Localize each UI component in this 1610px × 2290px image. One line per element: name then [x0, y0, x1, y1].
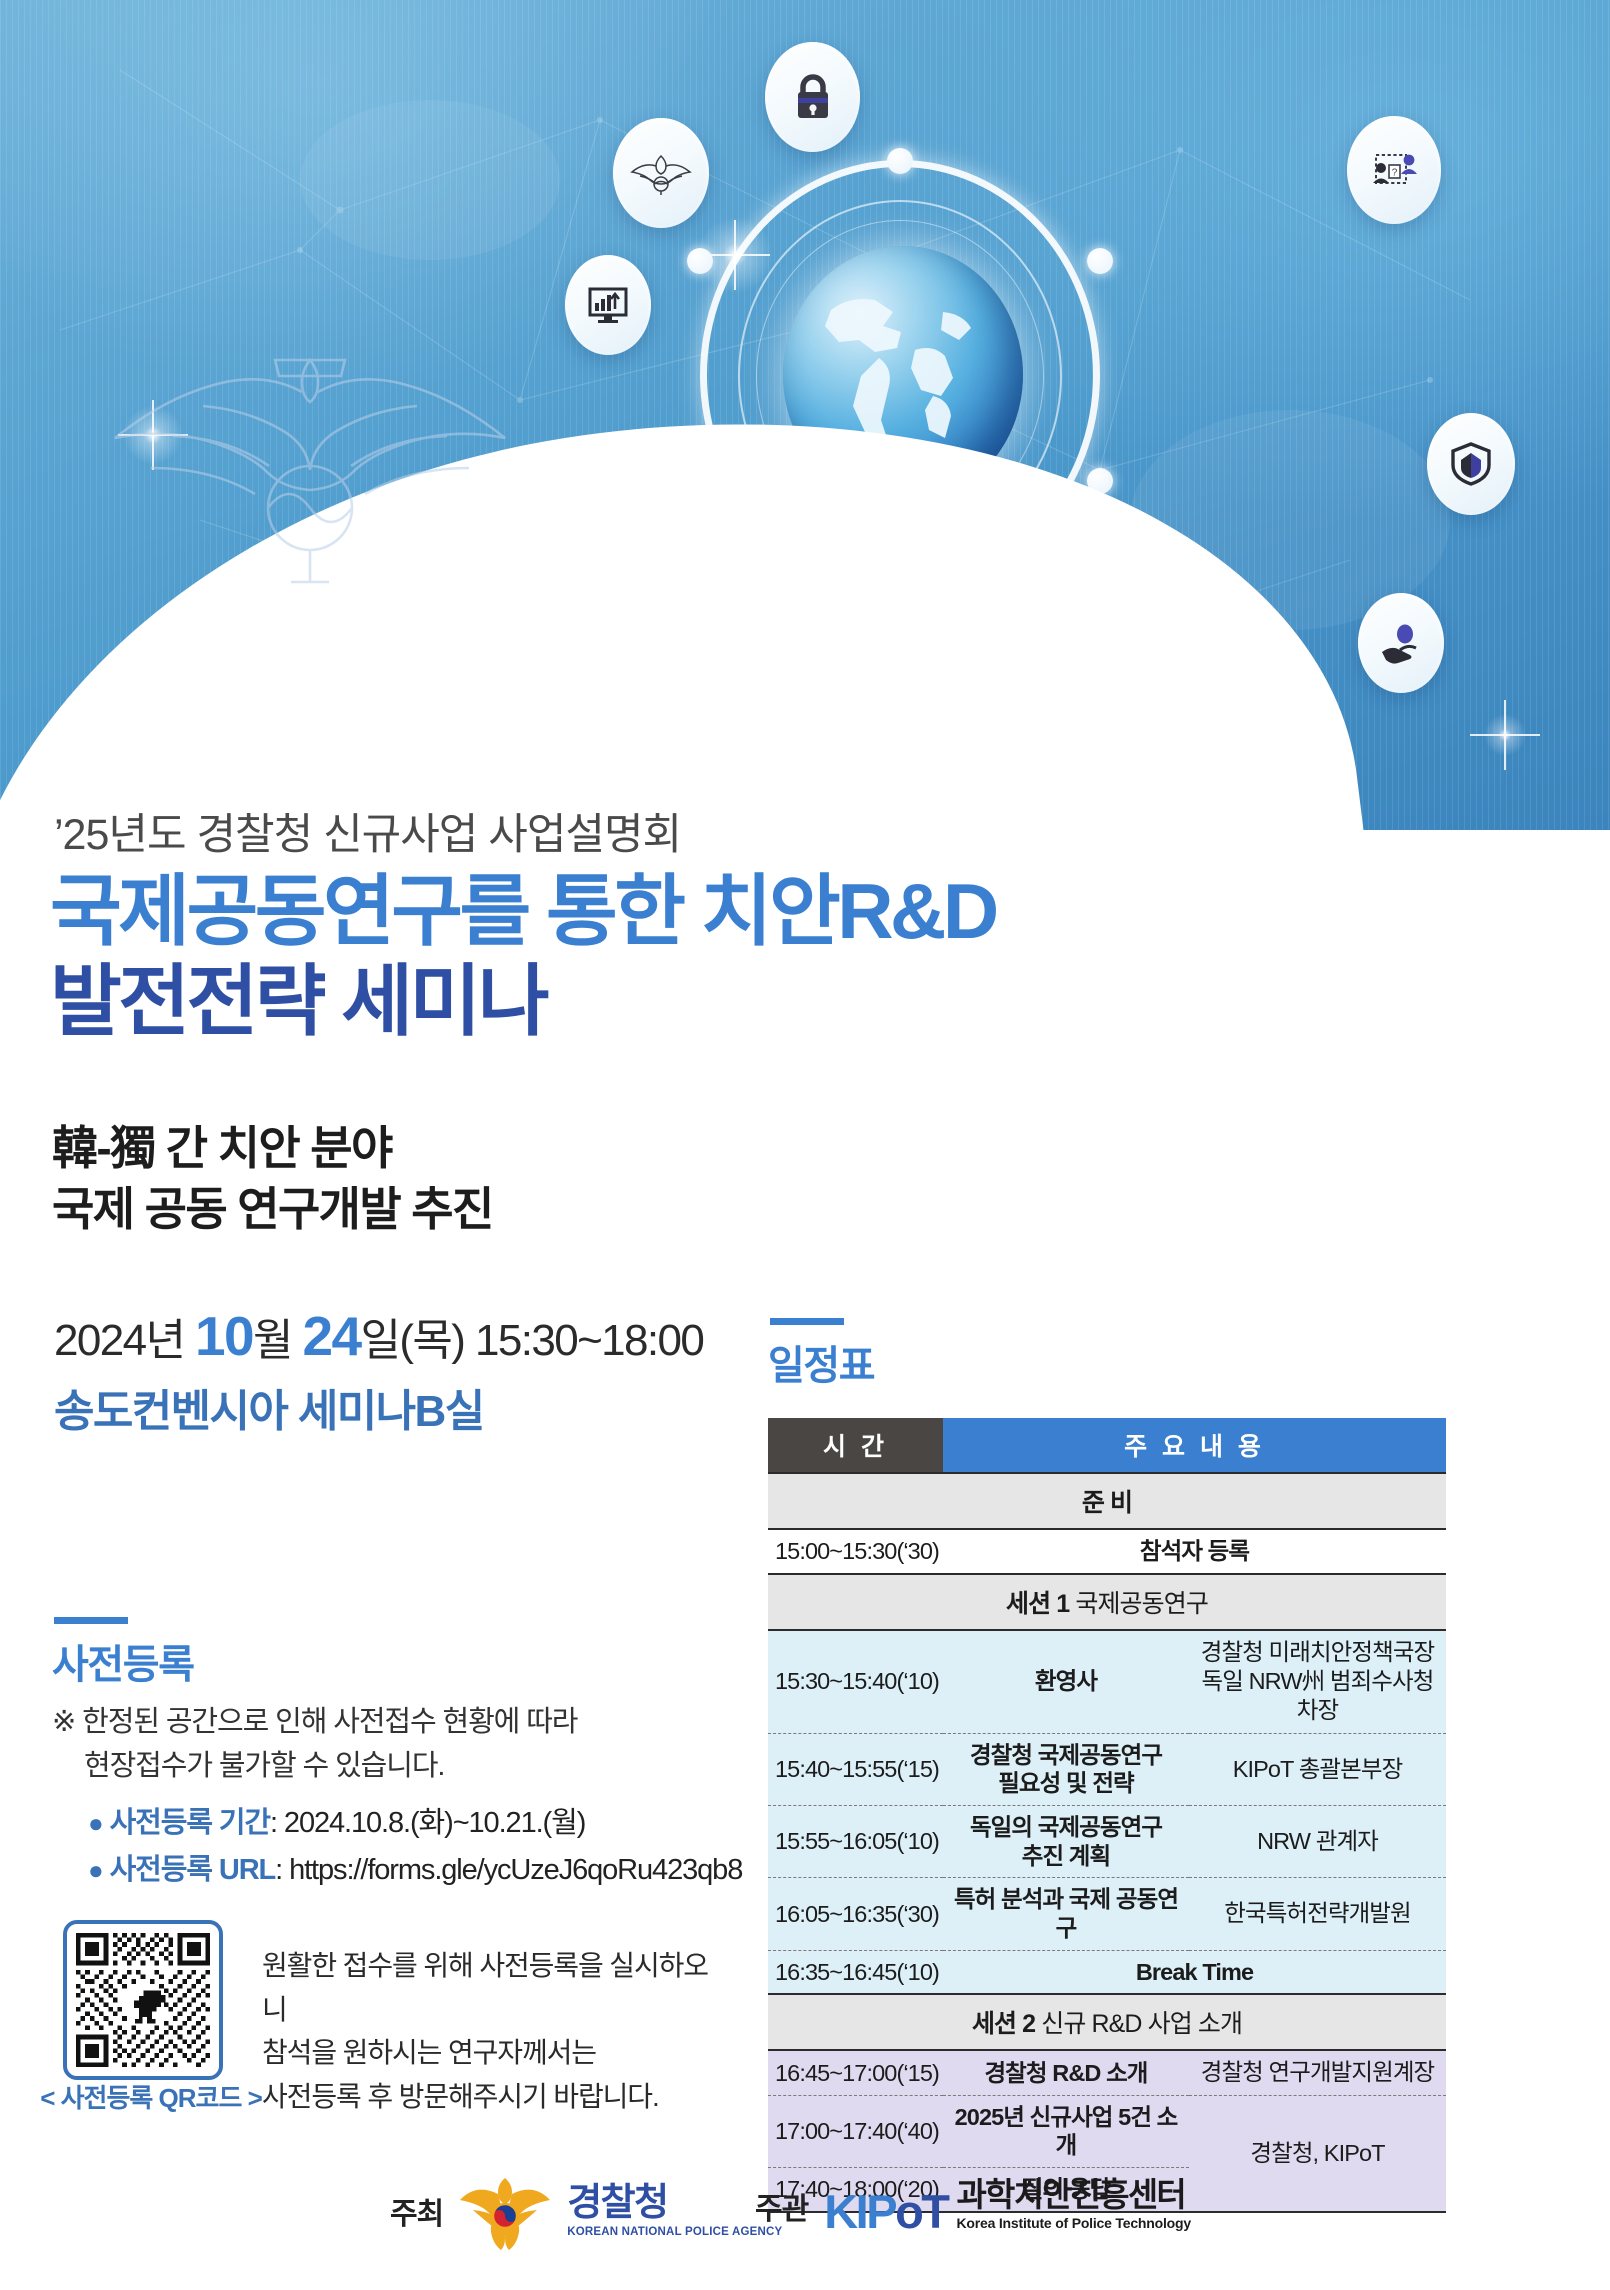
bubble-id-profile: ? — [1347, 116, 1441, 224]
cell-speaker: 한국특허전략개발원 — [1189, 1878, 1446, 1950]
registration-note: ※ 한정된 공간으로 인해 사전접수 현황에 따라 현장접수가 불가할 수 있습… — [52, 1700, 692, 1788]
cell-speaker: 경찰청 미래치안정책국장독일 NRW州 범죄수사청 차장 — [1189, 1630, 1446, 1734]
title-line-2: 발전전략 세미나 — [50, 956, 1150, 1046]
police-emblem-icon — [630, 150, 692, 196]
event-venue: 송도컨벤시아 세미나B실 — [54, 1375, 484, 1439]
chart-monitor-icon — [585, 283, 631, 327]
registration-period-label: 사전등록 기간 — [110, 1807, 270, 1839]
cell-speaker: NRW 관계자 — [1189, 1806, 1446, 1878]
cell-time: 16:05~16:35(‘30) — [768, 1878, 943, 1950]
orbit-node — [687, 248, 713, 274]
qr-instruction-text: 원활한 접수를 위해 사전등록을 실시하오니 참석을 원하시는 연구자께서는 사… — [262, 1944, 732, 2119]
page-title: 국제공동연구를 통한 치안R&D 발전전략 세미나 — [50, 866, 1150, 1047]
event-datetime: 2024년 10월 24일(목) 15:30~18:00 — [54, 1304, 703, 1368]
cell-content: 참석자 등록 — [943, 1529, 1446, 1574]
kna-eagle-logo-icon — [459, 2172, 551, 2250]
subtitle-line-2: 국제 공동 연구개발 추진 — [52, 1179, 493, 1240]
bullet-icon: ● — [88, 1855, 103, 1885]
schedule-heading: 일정표 — [768, 1333, 874, 1391]
registration-url-value[interactable]: : https://forms.gle/ycUzeJ6qoRu423qb8 — [275, 1854, 742, 1886]
registration-period-value: : 2024.10.8.(화)~10.21.(월) — [270, 1807, 585, 1839]
table-section-row: 세션 2 신규 R&D 사업 소개 — [768, 1994, 1446, 2050]
list-item: ● 사전등록 URL: https://forms.gle/ycUzeJ6qoR… — [88, 1847, 768, 1894]
title-line-1: 국제공동연구를 통한 치안R&D — [50, 866, 1150, 956]
cell-speaker: KIPoT 총괄본부장 — [1189, 1733, 1446, 1805]
cell-content: 2025년 신규사업 5건 소개 — [943, 2095, 1189, 2167]
bubble-chart-monitor — [565, 255, 651, 355]
date-month-unit: 월 — [253, 1316, 292, 1365]
table-row: 16:05~16:35(‘30)특허 분석과 국제 공동연구한국특허전략개발원 — [768, 1878, 1446, 1950]
date-year: 2024년 — [54, 1316, 184, 1365]
organizer-label: 주관 — [755, 2184, 808, 2228]
kna-name-en: KOREAN NATIONAL POLICE AGENCY — [567, 2227, 782, 2239]
cell-content: 경찰청 국제공동연구필요성 및 전략 — [943, 1733, 1189, 1805]
event-subtitle: 韓-獨 간 치안 분야 국제 공동 연구개발 추진 — [52, 1118, 493, 1239]
date-day-unit: 일(목) — [360, 1316, 464, 1365]
table-header-row: 시 간 주 요 내 용 — [768, 1418, 1446, 1473]
kipot-wordmark: KIPoT — [824, 2190, 947, 2233]
qr-instruction-line-1: 원활한 접수를 위해 사전등록을 실시하오니 — [262, 1944, 732, 2031]
bubble-shield — [1427, 413, 1515, 515]
qr-instruction-line-2: 참석을 원하시는 연구자께서는 — [262, 2031, 732, 2075]
qr-instruction-line-3: 사전등록 후 방문해주시기 바랍니다. — [262, 2075, 732, 2119]
bullet-icon: ● — [88, 1808, 103, 1838]
cell-content: Break Time — [943, 1950, 1446, 1994]
kipot-logo: KIPoT 과학치안진흥센터 Korea Institute of Police… — [824, 2178, 1191, 2233]
kna-name-ko: 경찰청 — [567, 2184, 782, 2222]
svg-text:?: ? — [1392, 168, 1398, 179]
section-label-bold: 세션 2 — [972, 2010, 1035, 2038]
kipot-name-ko: 과학치안진흥센터 — [956, 2178, 1190, 2211]
table-row: 15:30~15:40(‘10)환영사경찰청 미래치안정책국장독일 NRW州 범… — [768, 1630, 1446, 1734]
event-time-range: 15:30~18:00 — [475, 1316, 703, 1365]
date-month: 10 — [195, 1305, 253, 1367]
host-label: 주최 — [390, 2189, 443, 2233]
header-banner: ? — [0, 0, 1610, 830]
registration-note-line-2: 현장접수가 불가할 수 있습니다. — [52, 1744, 692, 1788]
section-label: 세션 2 신규 R&D 사업 소개 — [768, 1994, 1446, 2050]
cell-content: 독일의 국제공동연구추진 계획 — [943, 1806, 1189, 1878]
id-profile-icon: ? — [1369, 148, 1419, 192]
event-kicker: ’25년도 경찰청 신규사업 사업설명회 — [54, 800, 681, 862]
cell-time: 15:30~15:40(‘10) — [768, 1630, 943, 1734]
cell-time: 16:45~17:00(‘15) — [768, 2050, 943, 2095]
handshake-care-icon — [1378, 622, 1424, 664]
table-row: 15:55~16:05(‘10)독일의 국제공동연구추진 계획NRW 관계자 — [768, 1806, 1446, 1878]
column-header-content: 주 요 내 용 — [943, 1418, 1446, 1473]
cell-time: 15:40~15:55(‘15) — [768, 1733, 943, 1805]
column-header-time: 시 간 — [768, 1418, 943, 1473]
list-item: ● 사전등록 기간: 2024.10.8.(화)~10.21.(월) — [88, 1800, 768, 1847]
kipot-word-part-2: oT — [895, 2185, 947, 2238]
table-row: 15:40~15:55(‘15)경찰청 국제공동연구필요성 및 전략KIPoT … — [768, 1733, 1446, 1805]
cell-time: 16:35~16:45(‘10) — [768, 1950, 943, 1994]
bubble-police-emblem — [613, 118, 709, 228]
section-label-bold: 세션 1 — [1006, 1590, 1069, 1618]
cell-content: 환영사 — [943, 1630, 1189, 1734]
table-row: 15:00~15:30(‘30)참석자 등록 — [768, 1529, 1446, 1574]
table-section-row: 준 비 — [768, 1473, 1446, 1529]
registration-list: ● 사전등록 기간: 2024.10.8.(화)~10.21.(월) ● 사전등… — [88, 1800, 768, 1894]
cell-speaker: 경찰청 연구개발지원계장 — [1189, 2050, 1446, 2095]
registration-heading: 사전등록 — [52, 1632, 194, 1690]
kipot-subtitle: 과학치안진흥센터 Korea Institute of Police Techn… — [956, 2178, 1190, 2233]
cell-content: 경찰청 R&D 소개 — [943, 2050, 1189, 2095]
kipot-word-part-1: KIP — [824, 2185, 895, 2238]
cell-time: 15:55~16:05(‘10) — [768, 1806, 943, 1878]
kipot-name-en: Korea Institute of Police Technology — [956, 2216, 1190, 2230]
kna-wordmark: 경찰청 KOREAN NATIONAL POLICE AGENCY — [567, 2184, 782, 2239]
registration-qr-code[interactable] — [63, 1920, 223, 2080]
table-row: 16:45~17:00(‘15)경찰청 R&D 소개경찰청 연구개발지원계장 — [768, 2050, 1446, 2095]
registration-url-label: 사전등록 URL — [110, 1854, 276, 1886]
table-section-row: 세션 1 국제공동연구 — [768, 1574, 1446, 1630]
bubble-handshake-care — [1358, 593, 1444, 693]
section-label-bold: 준 비 — [1082, 1489, 1132, 1517]
date-day: 24 — [303, 1305, 361, 1367]
bubble-lock — [765, 42, 860, 152]
cell-time: 17:00~17:40(‘40) — [768, 2095, 943, 2167]
host-group: 주최 경찰청 KOREAN NATIONAL POLICE AGENCY — [390, 2172, 782, 2250]
registration-note-line-1: ※ 한정된 공간으로 인해 사전접수 현황에 따라 — [52, 1706, 577, 1738]
footer: 주최 경찰청 KOREAN NATIONAL POLICE AGENCY 주관 … — [0, 2160, 1610, 2280]
organizer-group: 주관 KIPoT 과학치안진흥센터 Korea Institute of Pol… — [755, 2178, 1191, 2233]
table-row: 17:00~17:40(‘40)2025년 신규사업 5건 소개경찰청, KIP… — [768, 2095, 1446, 2167]
orbit-node — [1087, 248, 1113, 274]
subtitle-line-1-rest: 간 치안 분야 — [155, 1122, 392, 1174]
shield-icon — [1449, 440, 1493, 488]
section-label: 준 비 — [768, 1473, 1446, 1529]
orbit-node — [887, 148, 913, 174]
qr-code-caption: < 사전등록 QR코드 > — [36, 2078, 266, 2115]
cell-time: 15:00~15:30(‘30) — [768, 1529, 943, 1574]
subtitle-line-1: 韓-獨 간 치안 분야 — [52, 1118, 493, 1179]
cell-content: 특허 분석과 국제 공동연구 — [943, 1878, 1189, 1950]
subtitle-hanja: 韓-獨 — [52, 1122, 155, 1174]
lock-icon — [790, 71, 836, 123]
section-label: 세션 1 국제공동연구 — [768, 1574, 1446, 1630]
schedule-table: 시 간 주 요 내 용 준 비15:00~15:30(‘30)참석자 등록세션 … — [768, 1418, 1446, 2213]
table-row: 16:35~16:45(‘10)Break Time — [768, 1950, 1446, 1994]
